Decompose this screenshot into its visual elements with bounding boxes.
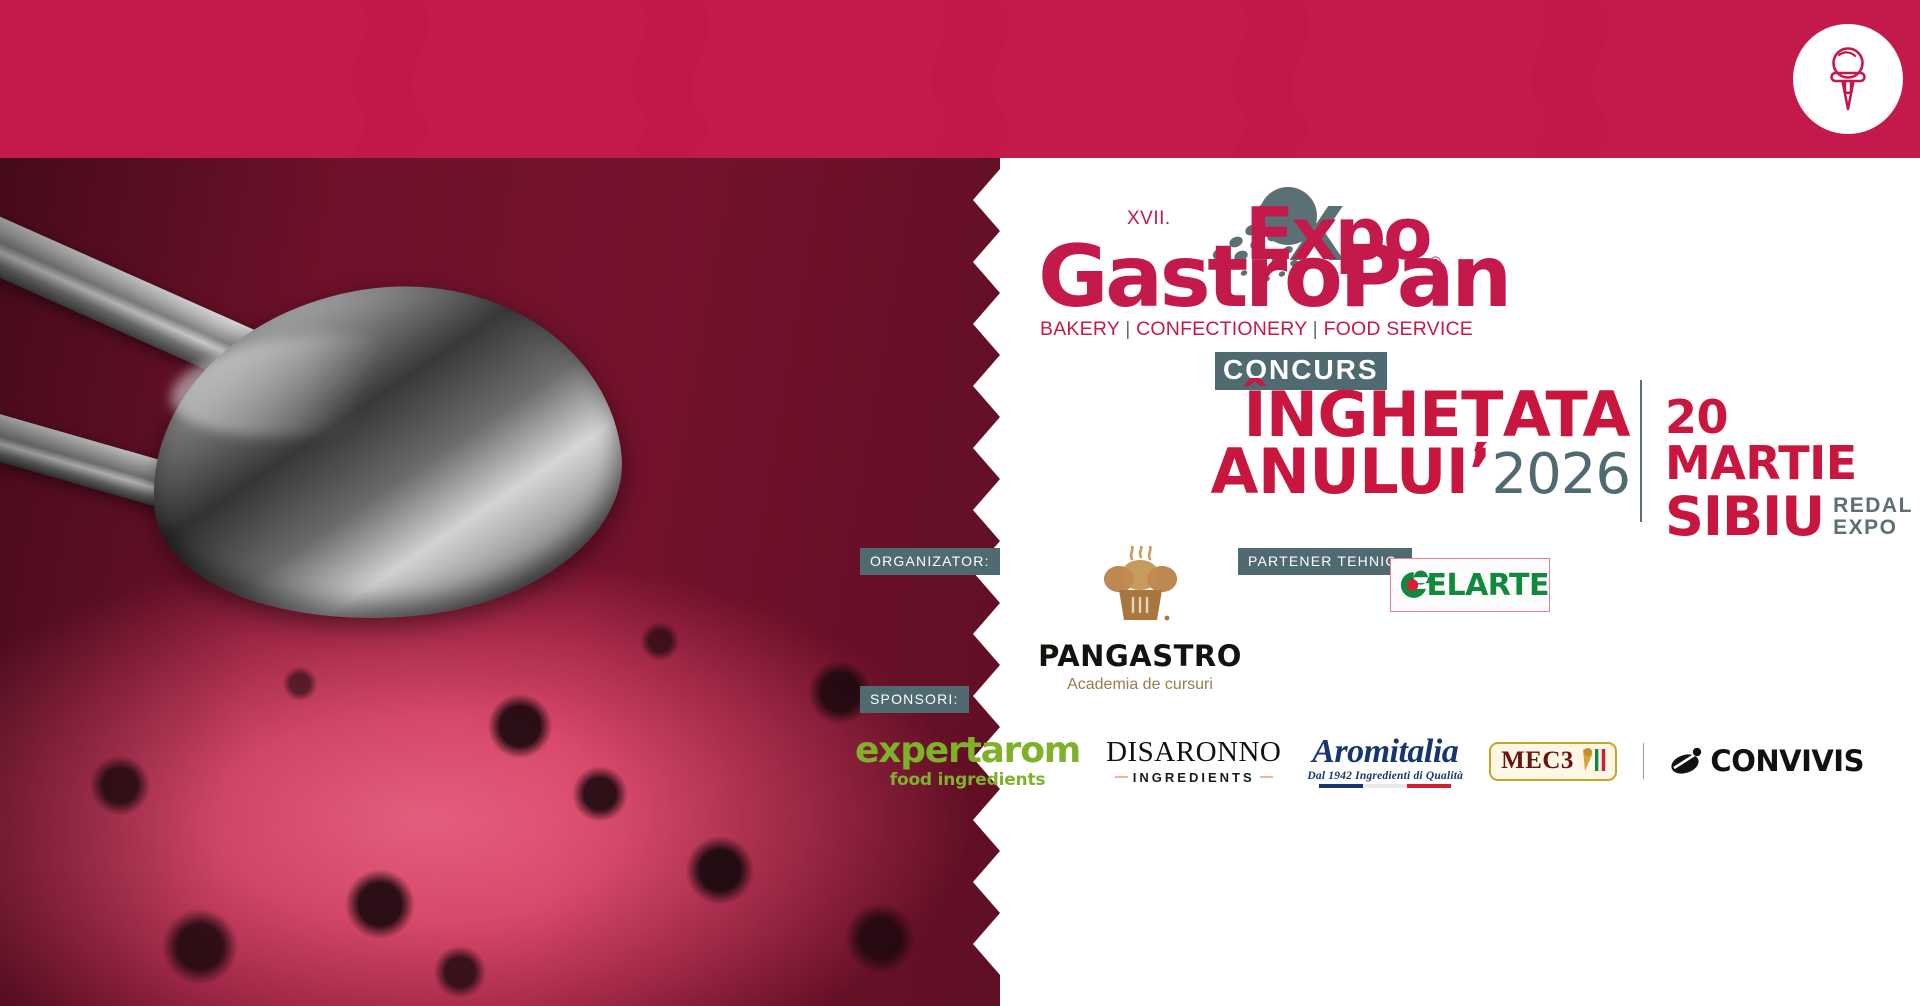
mec3-cone-flag-icon	[1577, 746, 1607, 776]
sponsors-row: expertarom food ingredients DISARONNO IN…	[855, 726, 1915, 796]
organizer-subtitle: Academia de cursuri	[1005, 676, 1275, 694]
photo-shading	[0, 158, 1000, 1006]
dash-right	[1260, 776, 1273, 778]
sponsor-mec3: MEC3	[1489, 742, 1617, 781]
italian-flag-icon	[1319, 784, 1451, 788]
sponsor-convivis: CONVIVIS	[1670, 746, 1864, 776]
gelarte-name: ELARTE	[1426, 568, 1549, 603]
sponsor-divider	[1643, 743, 1645, 779]
title-line2: ANULUI’	[1211, 435, 1492, 508]
sponsor-disaronno: DISARONNO INGREDIENTS	[1106, 738, 1281, 785]
logo-tagline: BAKERY | CONFECTIONERY | FOOD SERVICE	[1040, 318, 1473, 341]
sponsor-mec3-name: MEC3	[1501, 748, 1574, 773]
event-venue: REDALEXPO	[1833, 495, 1913, 539]
sponsori-label: SPONSORI:	[860, 686, 969, 713]
sponsor-expertarom-subtitle: food ingredients	[890, 770, 1046, 790]
logo-registered-mark: ®	[1430, 254, 1441, 271]
sponsor-aromitalia-name: Aromitalia	[1312, 735, 1458, 769]
event-date: 20 MARTIE	[1665, 394, 1920, 486]
event-city: SIBIU	[1665, 490, 1824, 544]
sponsor-disaronno-name: DISARONNO	[1106, 738, 1281, 767]
event-date-block: 20 MARTIE SIBIU REDALEXPO	[1665, 394, 1920, 544]
title-year: 2026	[1491, 442, 1630, 507]
title-divider	[1640, 380, 1642, 522]
zigzag-edge	[954, 158, 1000, 1006]
convivis-bean-icon	[1670, 746, 1704, 776]
venue-line1: REDAL	[1833, 494, 1913, 517]
content-panel: XVII. X Expo	[1000, 158, 1920, 1006]
sponsor-convivis-name: CONVIVIS	[1710, 747, 1864, 776]
gelarte-logo: ELARTE	[1390, 558, 1550, 612]
chef-hat-bread-icon	[1088, 546, 1192, 632]
organizer-logo: PANGASTRO Academia de cursuri	[1005, 546, 1275, 694]
dash-left	[1115, 776, 1128, 778]
sponsor-disaronno-subtitle: INGREDIENTS	[1133, 770, 1255, 785]
organizer-name: PANGASTRO	[1005, 639, 1275, 673]
header-bar	[0, 0, 1920, 158]
gastropan-logo: XVII. X Expo	[1030, 176, 1460, 346]
sponsor-expertarom-name: expertarom	[855, 733, 1080, 769]
sponsor-expertarom: expertarom food ingredients	[855, 733, 1080, 790]
tagline-foodservice: FOOD SERVICE	[1324, 318, 1473, 340]
tagline-bakery: BAKERY	[1040, 318, 1120, 340]
logo-name: GastroPan	[1038, 234, 1509, 320]
sponsor-aromitalia-subtitle: Dal 1942 Ingredienti di Qualità	[1307, 770, 1463, 782]
header-wave-pattern	[0, 0, 1920, 158]
venue-line2: EXPO	[1833, 516, 1897, 539]
sponsor-disaronno-subtitle-row: INGREDIENTS	[1115, 770, 1273, 785]
organizator-label: ORGANIZATOR:	[860, 548, 1000, 575]
sponsor-aromitalia: Aromitalia Dal 1942 Ingredienti di Quali…	[1307, 735, 1463, 788]
gelarte-g-mark-icon	[1397, 562, 1430, 608]
hero-photo	[0, 158, 1000, 1006]
competition-title: ÎNGHEȚATA ANULUI’2026	[890, 386, 1630, 501]
ice-cream-cone-icon	[1817, 43, 1879, 115]
ice-cream-badge	[1793, 24, 1903, 134]
tagline-confectionery: CONFECTIONERY	[1136, 318, 1307, 340]
